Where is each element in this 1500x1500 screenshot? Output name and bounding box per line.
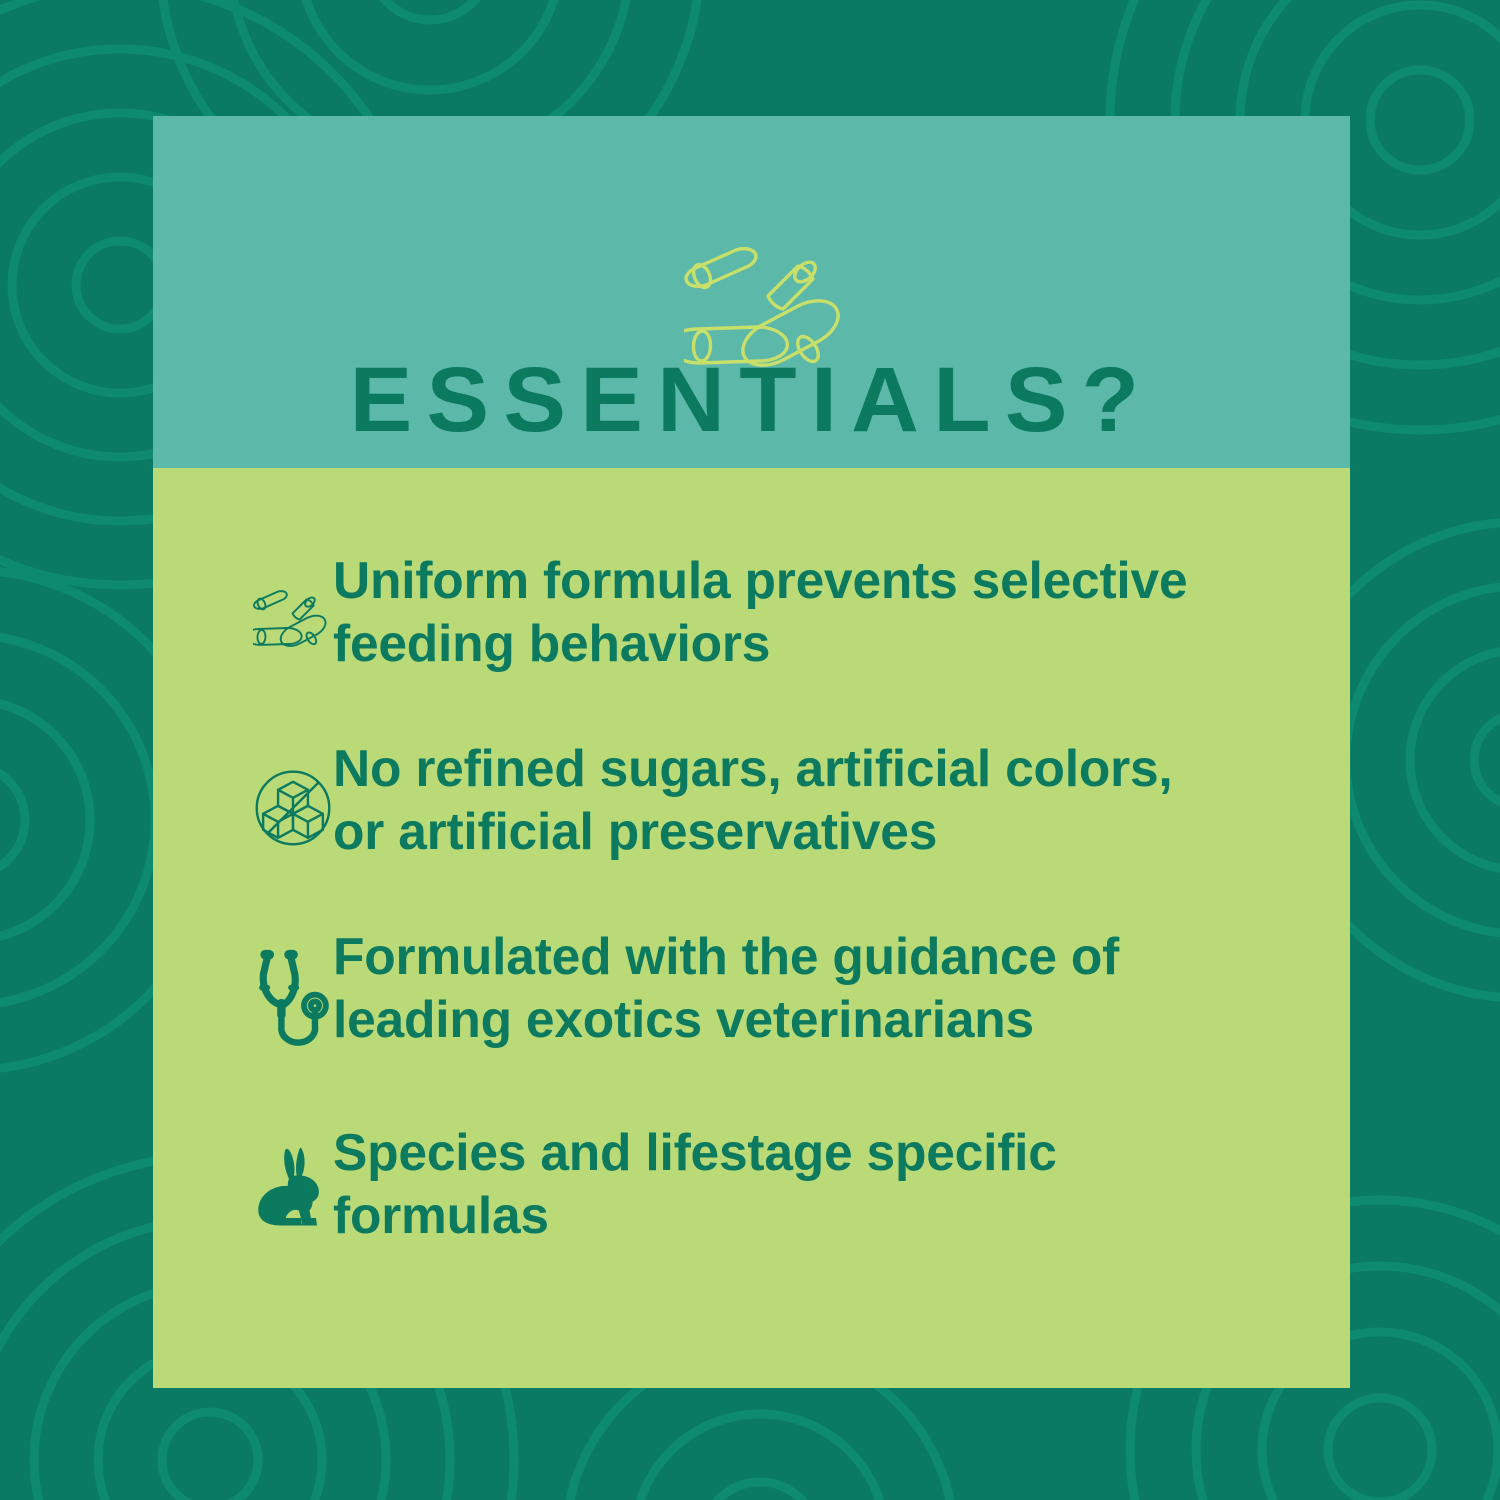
feature-text-4: Species and lifestage specific formulas xyxy=(333,1102,1224,1249)
pellets-icon-wrap xyxy=(153,532,333,700)
feature-text-2: No refined sugars, artificial colors, or… xyxy=(333,724,1224,865)
rabbit-icon xyxy=(253,1106,333,1266)
features-panel: Uniform formula prevents selective feedi… xyxy=(153,468,1350,1388)
no-sugar-cubes-icon xyxy=(253,738,333,878)
feature-item-pellets: Uniform formula prevents selective feedi… xyxy=(153,532,1350,700)
stethoscope-icon xyxy=(253,921,333,1071)
feature-item-species-specific: Species and lifestage specific formulas xyxy=(153,1102,1350,1270)
header-panel: WHY CHOOSE ESSENTIALS? xyxy=(153,116,1350,468)
feature-list: Uniform formula prevents selective feedi… xyxy=(153,520,1350,1290)
feature-item-no-sugar: No refined sugars, artificial colors, or… xyxy=(153,724,1350,892)
feature-text-1: Uniform formula prevents selective feedi… xyxy=(333,532,1224,677)
promo-poster: WHY CHOOSE ESSENTIALS? xyxy=(0,0,1500,1500)
feature-text-3: Formulated with the guidance of leading … xyxy=(333,912,1224,1053)
essentials-wordmark: ESSENTIALS? xyxy=(141,354,1362,446)
pellets-icon xyxy=(253,546,333,686)
rabbit-icon-wrap xyxy=(153,1102,333,1270)
feature-item-vet-guidance: Formulated with the guidance of leading … xyxy=(153,912,1350,1080)
stethoscope-icon-wrap xyxy=(153,912,333,1080)
no-sugar-icon-wrap xyxy=(153,724,333,892)
